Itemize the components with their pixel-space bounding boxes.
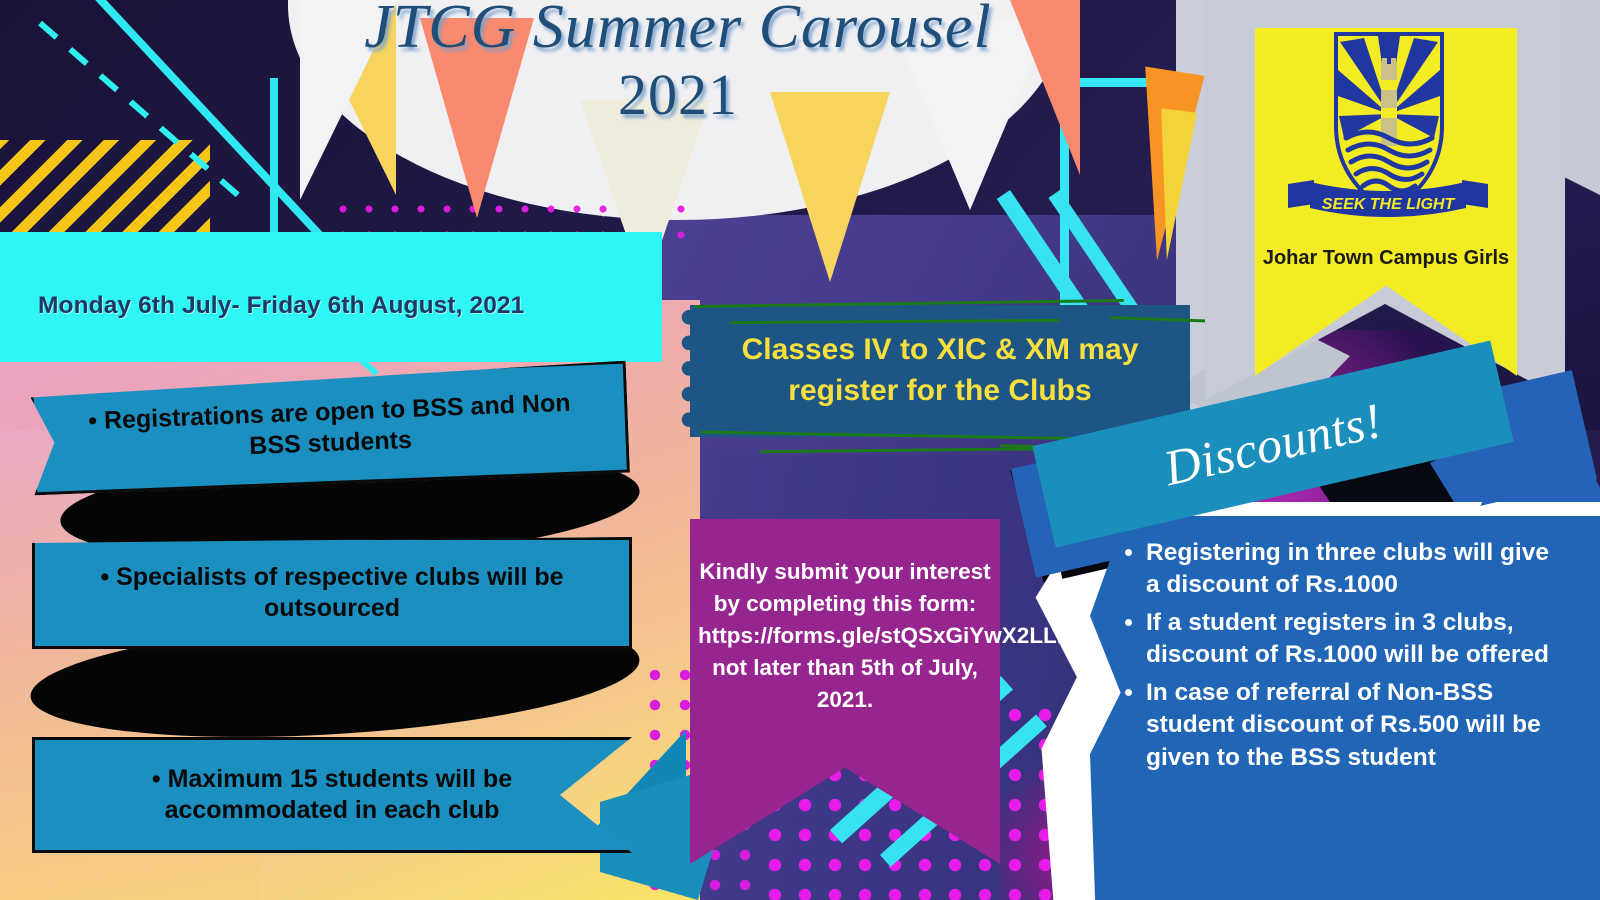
poster-title: JTCG Summer Carousel 2021 — [288, 0, 1068, 124]
campus-name: Johar Town Campus Girls — [1255, 247, 1517, 270]
discount-list: Registering in three clubs will give a d… — [1118, 537, 1566, 780]
date-banner-text: Monday 6th July- Friday 6th August, 2021 — [38, 292, 648, 320]
ribbon-registrations-text: • Registrations are open to BSS and Non … — [31, 386, 629, 471]
ribbon-specialists: • Specialists of respective clubs will b… — [32, 537, 632, 649]
poster-canvas: JTCG Summer Carousel 2021 Monday 6th Jul… — [0, 0, 1600, 900]
ribbon-maximum-students-text: • Maximum 15 students will be accommodat… — [35, 764, 629, 826]
discount-item: If a student registers in 3 clubs, disco… — [1146, 607, 1566, 671]
motto-text: SEEK THE LIGHT — [1322, 196, 1456, 213]
motto-ribbon-icon: SEEK THE LIGHT — [1288, 178, 1488, 226]
poster-title-year: 2021 — [288, 66, 1068, 124]
form-submission-text: Kindly submit your interest by completin… — [690, 556, 1000, 716]
ribbon-specialists-text: • Specialists of respective clubs will b… — [35, 562, 629, 624]
poster-title-line1: JTCG Summer Carousel — [364, 0, 991, 61]
ribbon-maximum-students: • Maximum 15 students will be accommodat… — [32, 737, 632, 853]
classes-banner-text: Classes IV to XIC & XM may register for … — [690, 330, 1190, 411]
discount-item: In case of referral of Non-BSS student d… — [1146, 677, 1566, 773]
discount-item: Registering in three clubs will give a d… — [1146, 537, 1566, 601]
